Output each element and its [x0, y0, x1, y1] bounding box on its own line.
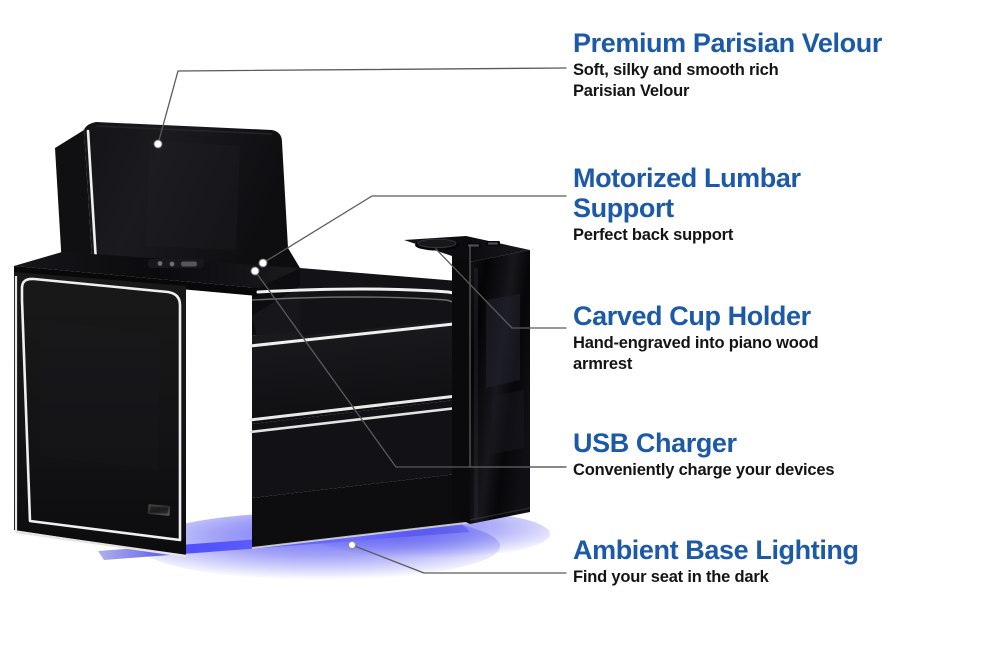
callout-premium-parisian-velour: Premium Parisian Velour Soft, silky and …: [573, 28, 882, 102]
brand-badge: [148, 504, 171, 516]
callout-description: Hand-engraved into piano wood armrest: [573, 333, 818, 375]
backrest: [55, 122, 288, 268]
callout-description: Perfect back support: [573, 225, 801, 246]
callout-motorized-lumbar-support: Motorized Lumbar Support Perfect back su…: [573, 163, 801, 246]
cup-holder: [415, 239, 459, 250]
control-panel[interactable]: [148, 259, 204, 268]
callout-description: Soft, silky and smooth rich Parisian Vel…: [573, 60, 882, 102]
callout-title: USB Charger: [573, 428, 834, 458]
callout-description: Find your seat in the dark: [573, 567, 859, 588]
callout-title: Motorized Lumbar Support: [573, 163, 801, 223]
infographic-page: Premium Parisian Velour Soft, silky and …: [0, 0, 1000, 667]
callout-description: Conveniently charge your devices: [573, 460, 834, 481]
callout-carved-cup-holder: Carved Cup Holder Hand-engraved into pia…: [573, 301, 818, 375]
callout-usb-charger: USB Charger Conveniently charge your dev…: [573, 428, 834, 481]
callout-title: Ambient Base Lighting: [573, 535, 859, 565]
callout-title: Carved Cup Holder: [573, 301, 818, 331]
callout-title: Premium Parisian Velour: [573, 28, 882, 58]
callout-ambient-base-lighting: Ambient Base Lighting Find your seat in …: [573, 535, 859, 588]
